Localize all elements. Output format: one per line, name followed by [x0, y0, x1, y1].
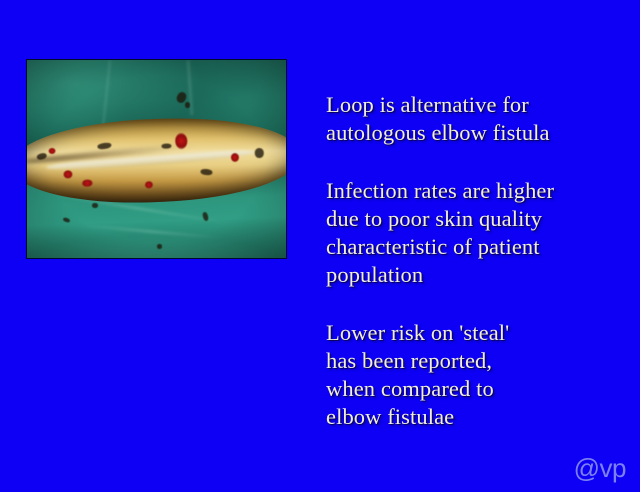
limb-speck: [200, 168, 213, 175]
drape-speck: [63, 217, 71, 223]
drape-speck: [157, 244, 162, 249]
drape-fold: [79, 224, 221, 239]
slide-text-column: Loop is alternative for autologous elbow…: [326, 68, 626, 431]
drape-speck: [92, 203, 98, 208]
slide-paragraph-2: Infection rates are higher due to poor s…: [326, 177, 626, 289]
drape-fold: [101, 60, 111, 127]
limb-speck: [98, 142, 113, 150]
blood-spot: [146, 181, 154, 188]
photo-drape-background: [27, 60, 286, 258]
watermark: @vp: [574, 453, 626, 484]
drape-speck: [185, 102, 190, 108]
limb-speck: [255, 149, 264, 159]
blood-spot: [82, 180, 93, 187]
blood-spot: [64, 171, 73, 179]
photo-limb: [27, 114, 286, 208]
slide-paragraph-3: Lower risk on 'steal' has been reported,…: [326, 319, 626, 431]
presentation-slide: Loop is alternative for autologous elbow…: [0, 0, 640, 492]
slide-paragraph-1: Loop is alternative for autologous elbow…: [326, 91, 626, 147]
blood-spot: [49, 148, 56, 154]
clinical-photo: [27, 60, 286, 258]
